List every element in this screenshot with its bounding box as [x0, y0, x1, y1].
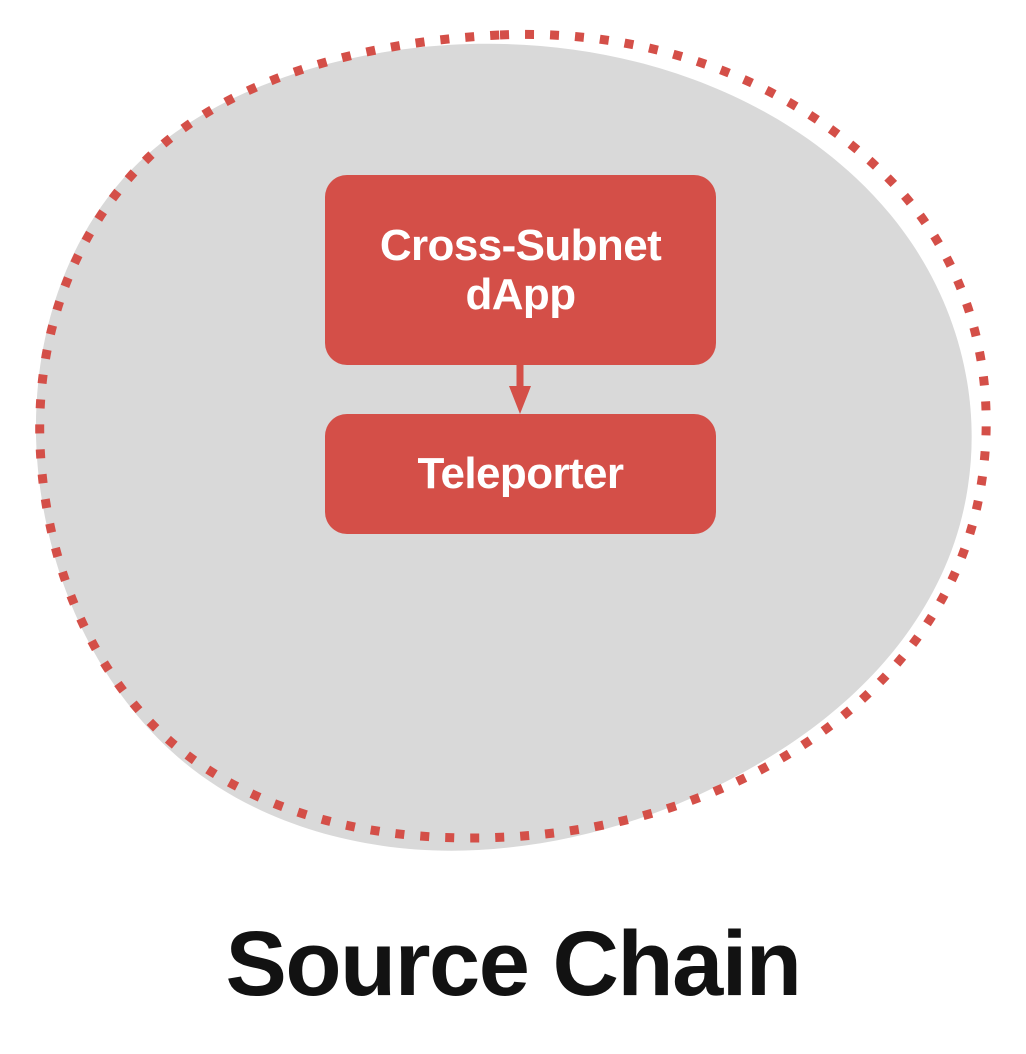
node-cross-subnet-dapp[interactable]: Cross-Subnet dApp	[325, 175, 716, 365]
node-teleporter-label: Teleporter	[418, 449, 624, 498]
diagram-canvas: Cross-Subnet dApp Teleporter Source Chai…	[0, 0, 1026, 1054]
node-cross-subnet-dapp-label: Cross-Subnet dApp	[380, 221, 661, 320]
node-teleporter[interactable]: Teleporter	[325, 414, 716, 534]
diagram-caption: Source Chain	[0, 918, 1026, 1010]
